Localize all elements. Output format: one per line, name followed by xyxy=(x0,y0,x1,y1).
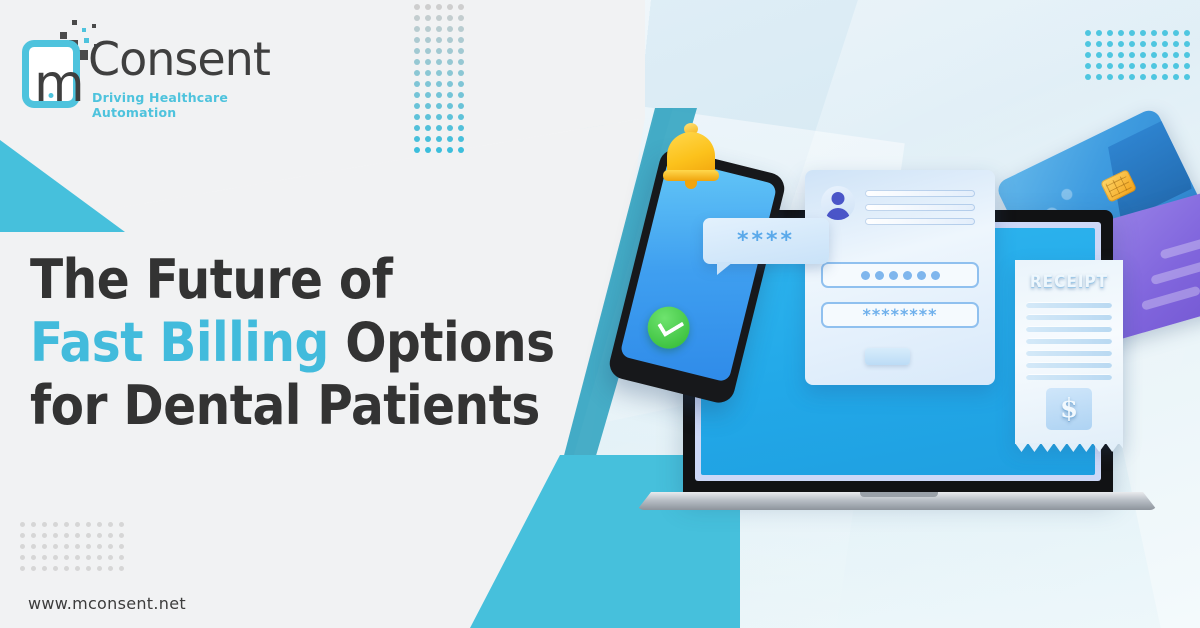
grid-dot xyxy=(414,136,420,142)
user-avatar-icon xyxy=(821,186,855,220)
grid-dot xyxy=(1151,74,1157,80)
grid-dot xyxy=(1140,74,1146,80)
receipt-line xyxy=(1026,374,1112,380)
grid-dot xyxy=(1162,41,1168,47)
grid-dot xyxy=(458,59,464,65)
grid-dot xyxy=(1162,74,1168,80)
grid-dot xyxy=(1107,74,1113,80)
grid-dot xyxy=(86,533,91,538)
pin-dot xyxy=(861,271,870,280)
submit-button[interactable] xyxy=(865,348,910,365)
grid-dot xyxy=(108,566,113,571)
grid-dot xyxy=(75,522,80,527)
grid-dot xyxy=(436,70,442,76)
otp-masked-value: **** xyxy=(737,230,795,252)
pin-field[interactable] xyxy=(821,262,979,288)
grid-dot xyxy=(447,92,453,98)
grid-dot xyxy=(1162,63,1168,69)
grid-dot xyxy=(1140,30,1146,36)
card-line xyxy=(1141,286,1200,311)
grid-dot xyxy=(425,147,431,153)
grid-dot xyxy=(447,103,453,109)
grid-dot xyxy=(458,4,464,10)
logo-letter-m: m xyxy=(34,58,85,110)
grid-dot xyxy=(425,125,431,131)
grid-dot xyxy=(1107,63,1113,69)
receipt-title: RECEIPT xyxy=(1015,272,1123,292)
grid-dot xyxy=(458,70,464,76)
headline-line-2-rest: Options xyxy=(329,311,555,374)
grid-dot xyxy=(447,37,453,43)
grid-dot xyxy=(447,114,453,120)
grid-dot xyxy=(414,147,420,153)
grid-dot xyxy=(64,522,69,527)
grid-dot xyxy=(1096,52,1102,58)
grid-dot xyxy=(53,544,58,549)
grid-dot xyxy=(425,15,431,21)
grid-dot xyxy=(436,81,442,87)
logo-wordmark: Consent xyxy=(88,36,270,82)
grid-dot xyxy=(64,555,69,560)
grid-dot xyxy=(1096,41,1102,47)
receipt-line xyxy=(1026,302,1112,308)
grid-dot xyxy=(97,522,102,527)
grid-dot xyxy=(458,136,464,142)
grid-dot xyxy=(414,92,420,98)
grid-dot xyxy=(42,522,47,527)
grid-dot xyxy=(458,26,464,32)
form-info-line xyxy=(865,190,975,197)
grid-dot xyxy=(447,59,453,65)
grid-dot xyxy=(64,544,69,549)
grid-dot xyxy=(1085,63,1091,69)
pin-dot xyxy=(931,271,940,280)
grid-dot xyxy=(1129,63,1135,69)
logo-tagline: Driving Healthcare Automation xyxy=(92,90,262,120)
grid-dot xyxy=(414,125,420,131)
grid-dot xyxy=(414,15,420,21)
logo-pixel xyxy=(60,32,67,39)
headline-highlight: Fast Billing xyxy=(30,311,329,374)
grid-dot xyxy=(42,544,47,549)
grid-dot xyxy=(86,555,91,560)
grid-dot xyxy=(436,26,442,32)
dot-grid-top-right xyxy=(1085,30,1195,85)
website-url[interactable]: www.mconsent.net xyxy=(28,594,186,613)
grid-dot xyxy=(1118,41,1124,47)
pin-dot xyxy=(889,271,898,280)
grid-dot xyxy=(1107,30,1113,36)
grid-dot xyxy=(414,4,420,10)
grid-dot xyxy=(31,555,36,560)
grid-dot xyxy=(1118,52,1124,58)
grid-dot xyxy=(31,566,36,571)
grid-dot xyxy=(1184,52,1190,58)
grid-dot xyxy=(1184,74,1190,80)
grid-dot xyxy=(1151,52,1157,58)
form-info-line xyxy=(865,218,975,225)
grid-dot xyxy=(458,103,464,109)
grid-dot xyxy=(1151,63,1157,69)
grid-dot xyxy=(447,48,453,54)
grid-dot xyxy=(1140,41,1146,47)
password-field[interactable]: ******** xyxy=(821,302,979,328)
grid-dot xyxy=(108,522,113,527)
banner: m Consent Driving Healthcare Automation … xyxy=(0,0,1200,628)
grid-dot xyxy=(414,37,420,43)
grid-dot xyxy=(75,566,80,571)
grid-dot xyxy=(425,70,431,76)
grid-dot xyxy=(108,544,113,549)
grid-dot xyxy=(108,533,113,538)
grid-dot xyxy=(31,522,36,527)
grid-dot xyxy=(414,48,420,54)
grid-dot xyxy=(447,125,453,131)
grid-dot xyxy=(458,92,464,98)
receipt-line xyxy=(1026,338,1112,344)
pin-dot xyxy=(917,271,926,280)
grid-dot xyxy=(1129,74,1135,80)
headline-line-1: The Future of xyxy=(30,248,590,311)
grid-dot xyxy=(64,566,69,571)
grid-dot xyxy=(436,59,442,65)
grid-dot xyxy=(447,70,453,76)
grid-dot xyxy=(86,544,91,549)
grid-dot xyxy=(1085,52,1091,58)
grid-dot xyxy=(1129,30,1135,36)
logo-pixel xyxy=(82,28,86,32)
grid-dot xyxy=(119,566,124,571)
grid-dot xyxy=(414,81,420,87)
grid-dot xyxy=(108,555,113,560)
page-title: The Future of Fast Billing Options for D… xyxy=(30,248,590,438)
grid-dot xyxy=(436,103,442,109)
grid-dot xyxy=(436,48,442,54)
grid-dot xyxy=(64,533,69,538)
grid-dot xyxy=(20,533,25,538)
grid-dot xyxy=(436,15,442,21)
grid-dot xyxy=(1085,74,1091,80)
receipt-line xyxy=(1026,314,1112,320)
grid-dot xyxy=(458,114,464,120)
grid-dot xyxy=(97,566,102,571)
grid-dot xyxy=(425,92,431,98)
grid-dot xyxy=(97,555,102,560)
grid-dot xyxy=(458,125,464,131)
payment-form-card: ******** xyxy=(805,170,995,385)
grid-dot xyxy=(119,533,124,538)
grid-dot xyxy=(31,533,36,538)
logo[interactable]: m Consent Driving Healthcare Automation xyxy=(22,14,262,110)
grid-dot xyxy=(436,92,442,98)
grid-dot xyxy=(414,70,420,76)
grid-dot xyxy=(425,114,431,120)
grid-dot xyxy=(1129,41,1135,47)
grid-dot xyxy=(447,136,453,142)
grid-dot xyxy=(1096,30,1102,36)
grid-dot xyxy=(414,26,420,32)
grid-dot xyxy=(119,555,124,560)
grid-dot xyxy=(1085,30,1091,36)
grid-dot xyxy=(1096,63,1102,69)
grid-dot xyxy=(414,103,420,109)
grid-dot xyxy=(1173,74,1179,80)
grid-dot xyxy=(458,48,464,54)
headline-line-3: for Dental Patients xyxy=(30,374,590,437)
grid-dot xyxy=(1173,63,1179,69)
grid-dot xyxy=(86,566,91,571)
logo-pixel xyxy=(72,20,77,25)
card-line xyxy=(1159,227,1200,260)
notification-bell-icon xyxy=(663,122,719,184)
grid-dot xyxy=(1140,63,1146,69)
grid-dot xyxy=(20,555,25,560)
password-masked-value: ******** xyxy=(863,307,938,323)
grid-dot xyxy=(436,125,442,131)
grid-dot xyxy=(86,522,91,527)
grid-dot xyxy=(119,522,124,527)
grid-dot xyxy=(53,533,58,538)
grid-dot xyxy=(447,147,453,153)
pin-dot xyxy=(903,271,912,280)
receipt-line xyxy=(1026,362,1112,368)
grid-dot xyxy=(1129,52,1135,58)
grid-dot xyxy=(42,566,47,571)
logo-pixel xyxy=(92,24,96,28)
grid-dot xyxy=(1107,52,1113,58)
grid-dot xyxy=(97,533,102,538)
grid-dot xyxy=(53,522,58,527)
grid-dot xyxy=(1173,30,1179,36)
grid-dot xyxy=(425,136,431,142)
grid-dot xyxy=(1162,52,1168,58)
grid-dot xyxy=(1118,63,1124,69)
grid-dot xyxy=(53,555,58,560)
grid-dot xyxy=(425,4,431,10)
grid-dot xyxy=(119,544,124,549)
grid-dot xyxy=(425,37,431,43)
grid-dot xyxy=(1085,41,1091,47)
grid-dot xyxy=(1140,52,1146,58)
receipt-amount-icon: $ xyxy=(1046,388,1092,430)
grid-dot xyxy=(425,48,431,54)
grid-dot xyxy=(436,37,442,43)
grid-dot xyxy=(1151,41,1157,47)
grid-dot xyxy=(436,136,442,142)
grid-dot xyxy=(1162,30,1168,36)
grid-dot xyxy=(42,533,47,538)
grid-dot xyxy=(458,37,464,43)
grid-dot xyxy=(1096,74,1102,80)
grid-dot xyxy=(425,103,431,109)
grid-dot xyxy=(1107,41,1113,47)
grid-dot xyxy=(75,544,80,549)
grid-dot xyxy=(1184,41,1190,47)
grid-dot xyxy=(447,26,453,32)
grid-dot xyxy=(458,15,464,21)
grid-dot xyxy=(447,4,453,10)
grid-dot xyxy=(75,555,80,560)
headline-line-2: Fast Billing Options xyxy=(30,311,590,374)
grid-dot xyxy=(20,544,25,549)
grid-dot xyxy=(414,59,420,65)
grid-dot xyxy=(425,26,431,32)
grid-dot xyxy=(1173,41,1179,47)
grid-dot xyxy=(20,566,25,571)
grid-dot xyxy=(1173,52,1179,58)
grid-dot xyxy=(1151,30,1157,36)
form-info-line xyxy=(865,204,975,211)
grid-dot xyxy=(436,114,442,120)
grid-dot xyxy=(1184,30,1190,36)
receipt-line xyxy=(1026,326,1112,332)
grid-dot xyxy=(42,555,47,560)
grid-dot xyxy=(436,4,442,10)
grid-dot xyxy=(1184,63,1190,69)
grid-dot xyxy=(1118,30,1124,36)
receipt-line xyxy=(1026,350,1112,356)
grid-dot xyxy=(447,81,453,87)
grid-dot xyxy=(425,59,431,65)
grid-dot xyxy=(414,114,420,120)
grid-dot xyxy=(425,81,431,87)
receipt-paper: RECEIPT $ xyxy=(1015,260,1123,444)
dot-grid-top-center xyxy=(414,4,469,158)
grid-dot xyxy=(53,566,58,571)
grid-dot xyxy=(458,81,464,87)
grid-dot xyxy=(1118,74,1124,80)
otp-speech-bubble: **** xyxy=(703,218,829,264)
dot-grid-bottom-left xyxy=(20,522,130,577)
grid-dot xyxy=(75,533,80,538)
dental-billing-illustration: ******** RECEIPT $ xyxy=(615,110,1200,530)
laptop-trackpad-notch xyxy=(860,492,938,497)
grid-dot xyxy=(97,544,102,549)
grid-dot xyxy=(31,544,36,549)
grid-dot xyxy=(436,147,442,153)
grid-dot xyxy=(458,147,464,153)
pin-dot xyxy=(875,271,884,280)
grid-dot xyxy=(447,15,453,21)
grid-dot xyxy=(20,522,25,527)
